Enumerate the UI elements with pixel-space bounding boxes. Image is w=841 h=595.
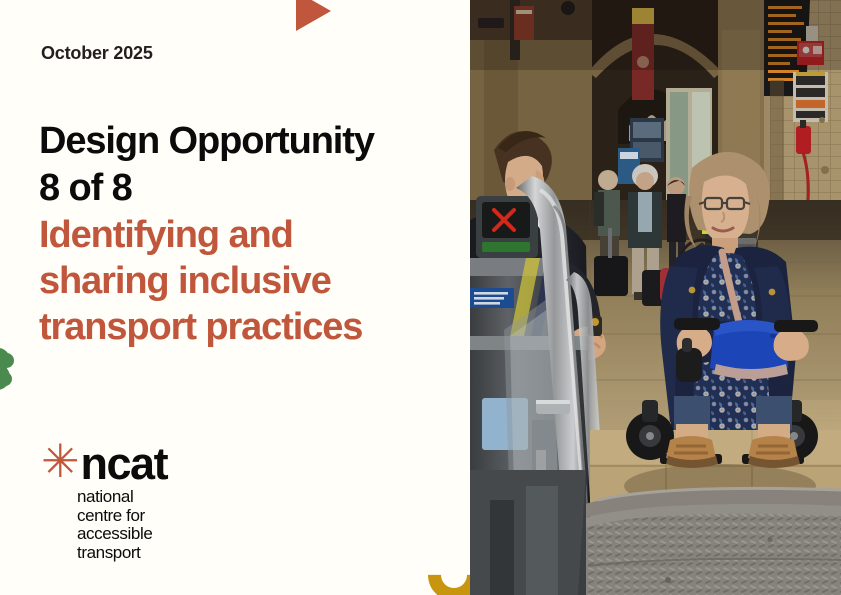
ncat-logo: ✳ ncat national centre for accessible tr… — [41, 443, 251, 562]
logo-tagline: national centre for accessible transport — [77, 488, 251, 562]
crescent-arc-icon — [417, 538, 470, 595]
logo-wordmark-row: ✳ ncat — [41, 443, 251, 485]
logo-wordmark: ncat — [81, 443, 168, 485]
logo-tagline-line-4: transport — [77, 544, 251, 563]
logo-tagline-line-2: centre for — [77, 507, 251, 526]
play-triangle-icon — [296, 0, 331, 31]
subhead-line-1: Identifying and — [39, 212, 459, 258]
date-label: October 2025 — [41, 43, 153, 64]
logo-tagline-line-1: national — [77, 488, 251, 507]
clover-shape-icon — [0, 348, 26, 396]
subhead-line-2: sharing inclusive — [39, 258, 459, 304]
headline-line-1: Design Opportunity — [39, 118, 459, 165]
subhead-line-3: transport practices — [39, 304, 459, 350]
headline-line-2: 8 of 8 — [39, 165, 459, 212]
headline-block: Design Opportunity 8 of 8 Identifying an… — [39, 118, 459, 350]
slide-root: October 2025 Design Opportunity 8 of 8 I… — [0, 0, 841, 595]
left-content-panel: October 2025 Design Opportunity 8 of 8 I… — [0, 0, 470, 595]
station-photo-illustration — [470, 0, 841, 595]
station-photo — [470, 0, 841, 595]
asterisk-icon: ✳ — [41, 441, 80, 481]
logo-tagline-line-3: accessible — [77, 525, 251, 544]
